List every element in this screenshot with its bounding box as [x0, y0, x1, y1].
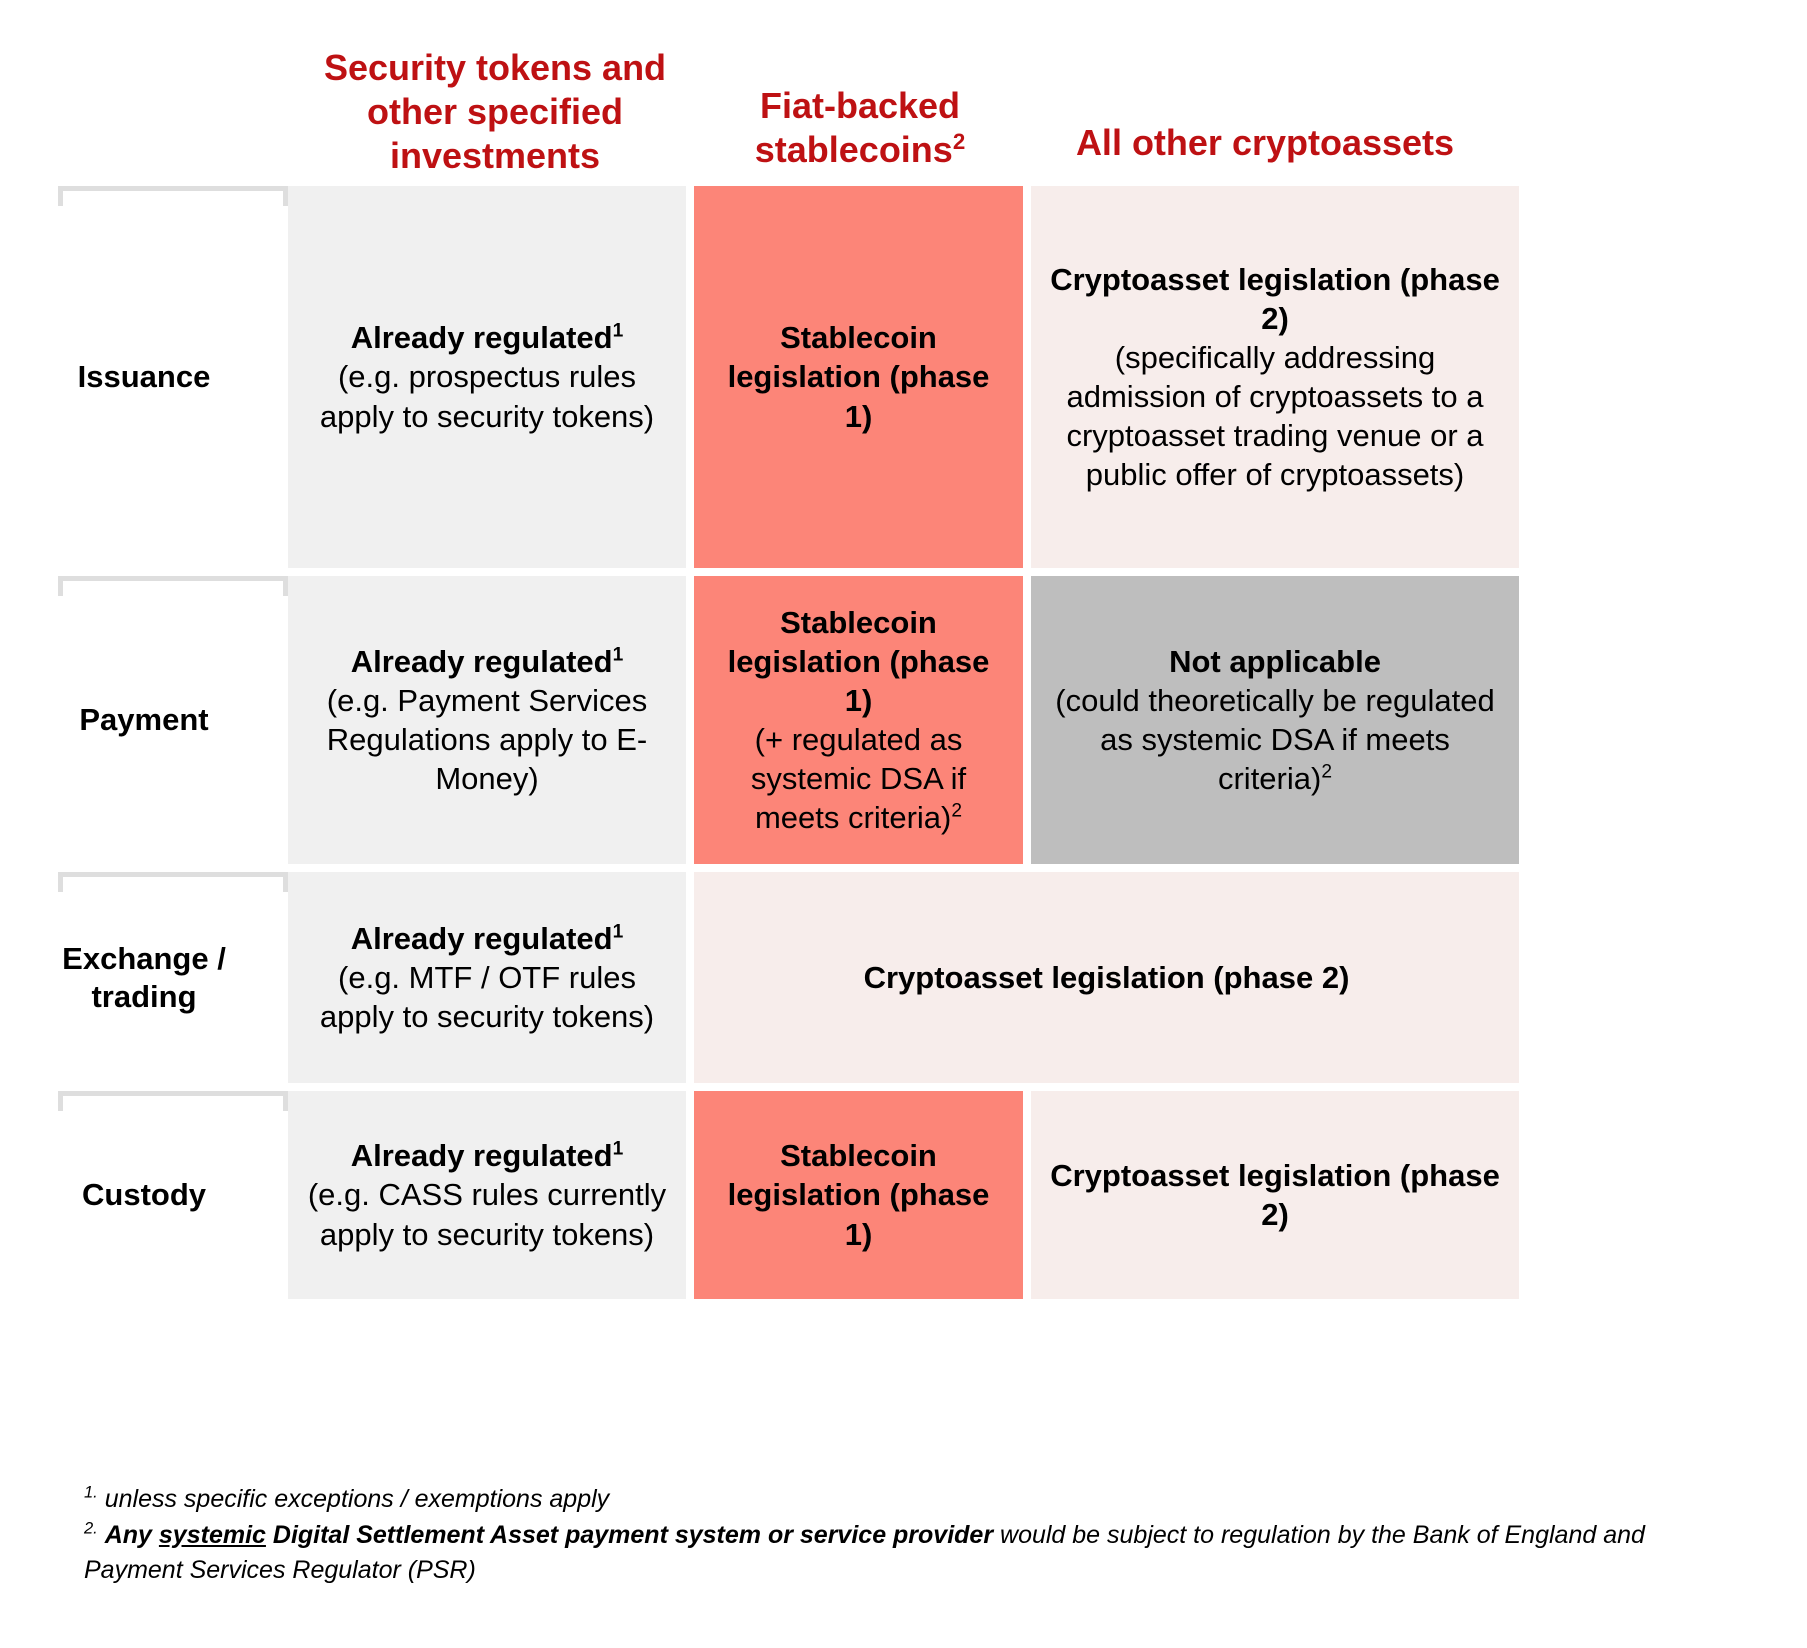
cell-detail: (e.g. prospectus rules apply to security… [306, 357, 668, 435]
cell-payment-other-cryptoassets: Not applicable (could theoretically be r… [1031, 576, 1519, 864]
cell-heading-text: Already regulated [351, 921, 613, 956]
cell-issuance-other-cryptoassets: Cryptoasset legislation (phase 2) (speci… [1031, 186, 1519, 568]
row-label-issuance: Issuance [0, 186, 288, 568]
cell-heading: Already regulated1 [351, 642, 624, 681]
column-header-security-tokens-label: Security tokens and other specified inve… [324, 47, 666, 176]
cell-heading: Cryptoasset legislation (phase 2) [1049, 1156, 1501, 1234]
column-header-security-tokens: Security tokens and other specified inve… [300, 46, 690, 178]
column-header-fiat-backed-stablecoins: Fiat-backed stablecoins2 [700, 84, 1020, 172]
cell-detail-text: (+ regulated as systemic DSA if meets cr… [751, 722, 966, 835]
row-label-custody-text: Custody [82, 1176, 206, 1213]
footnote-2-underlined: systemic [159, 1521, 266, 1549]
cell-custody-other-cryptoassets: Cryptoasset legislation (phase 2) [1031, 1091, 1519, 1299]
footnote-2-marker: 2. [84, 1519, 98, 1537]
cell-heading: Stablecoin legislation (phase 1) [712, 1136, 1005, 1253]
cell-heading-text: Already regulated [351, 1138, 613, 1173]
footnote-marker-2: 2 [1321, 762, 1332, 783]
cell-exchange-merged-stablecoins-and-other: Cryptoasset legislation (phase 2) [694, 872, 1519, 1083]
row-label-payment: Payment [0, 576, 288, 864]
footnote-marker-1: 1 [613, 645, 624, 666]
cell-detail-text: (could theoretically be regulated as sys… [1055, 683, 1494, 796]
cell-heading: Already regulated1 [351, 318, 624, 357]
column-header-fiat-footnote-marker: 2 [953, 129, 965, 154]
regulation-matrix: Issuance Already regulated1 (e.g. prospe… [0, 186, 1807, 1307]
column-header-fiat-backed-stablecoins-label: Fiat-backed stablecoins [755, 85, 960, 170]
cell-heading-text: Already regulated [351, 320, 613, 355]
column-header-all-other-cryptoassets-label: All other cryptoassets [1076, 122, 1454, 163]
cell-heading: Cryptoasset legislation (phase 2) [864, 958, 1350, 997]
cell-custody-security-tokens: Already regulated1 (e.g. CASS rules curr… [288, 1091, 686, 1299]
matrix-row-issuance: Issuance Already regulated1 (e.g. prospe… [0, 186, 1807, 568]
row-label-issuance-text: Issuance [78, 358, 211, 395]
row-label-payment-text: Payment [79, 701, 208, 738]
cell-heading: Already regulated1 [351, 1136, 624, 1175]
cell-custody-stablecoins: Stablecoin legislation (phase 1) [694, 1091, 1023, 1299]
matrix-row-exchange-trading: Exchange / trading Already regulated1 (e… [0, 872, 1807, 1083]
cell-payment-security-tokens: Already regulated1 (e.g. Payment Service… [288, 576, 686, 864]
column-header-all-other-cryptoassets: All other cryptoassets [1030, 121, 1500, 165]
column-headers: Security tokens and other specified inve… [0, 36, 1807, 186]
footnote-1: 1. unless specific exceptions / exemptio… [84, 1482, 1704, 1518]
cell-detail: (could theoretically be regulated as sys… [1049, 681, 1501, 798]
footnote-1-marker: 1. [84, 1484, 98, 1502]
cell-detail: (+ regulated as systemic DSA if meets cr… [712, 720, 1005, 837]
row-bracket-icon [58, 186, 288, 206]
matrix-row-payment: Payment Already regulated1 (e.g. Payment… [0, 576, 1807, 864]
cell-detail: (e.g. Payment Services Regulations apply… [306, 681, 668, 798]
footnote-2-bold-rest: Digital Settlement Asset payment system … [266, 1521, 993, 1549]
cell-heading: Stablecoin legislation (phase 1) [712, 318, 1005, 435]
footnote-2: 2. Any systemic Digital Settlement Asset… [84, 1518, 1704, 1589]
footnote-marker-1: 1 [613, 321, 624, 342]
footnote-marker-2: 2 [951, 801, 962, 822]
infographic-page: Security tokens and other specified inve… [0, 0, 1807, 1648]
cell-heading: Not applicable [1169, 642, 1381, 681]
cell-heading: Cryptoasset legislation (phase 2) [1049, 260, 1501, 338]
footnote-marker-1: 1 [613, 1139, 624, 1160]
cell-heading: Already regulated1 [351, 919, 624, 958]
cell-detail: (specifically addressing admission of cr… [1049, 338, 1501, 494]
row-label-exchange-trading: Exchange / trading [0, 872, 288, 1083]
footnote-marker-1: 1 [613, 922, 624, 943]
cell-issuance-stablecoins: Stablecoin legislation (phase 1) [694, 186, 1023, 568]
row-bracket-icon [58, 1091, 288, 1111]
cell-detail: (e.g. MTF / OTF rules apply to security … [306, 958, 668, 1036]
row-label-custody: Custody [0, 1091, 288, 1299]
footnote-1-text: unless specific exceptions / exemptions … [105, 1485, 609, 1513]
cell-heading: Stablecoin legislation (phase 1) [712, 603, 1005, 720]
cell-heading-text: Already regulated [351, 644, 613, 679]
row-bracket-icon [58, 872, 288, 892]
row-bracket-icon [58, 576, 288, 596]
footnotes: 1. unless specific exceptions / exemptio… [84, 1482, 1704, 1589]
cell-payment-stablecoins: Stablecoin legislation (phase 1) (+ regu… [694, 576, 1023, 864]
matrix-row-custody: Custody Already regulated1 (e.g. CASS ru… [0, 1091, 1807, 1299]
row-label-exchange-trading-text: Exchange / trading [12, 940, 276, 1014]
cell-exchange-security-tokens: Already regulated1 (e.g. MTF / OTF rules… [288, 872, 686, 1083]
cell-detail: (e.g. CASS rules currently apply to secu… [306, 1175, 668, 1253]
footnote-2-lead: Any [105, 1521, 159, 1549]
cell-issuance-security-tokens: Already regulated1 (e.g. prospectus rule… [288, 186, 686, 568]
